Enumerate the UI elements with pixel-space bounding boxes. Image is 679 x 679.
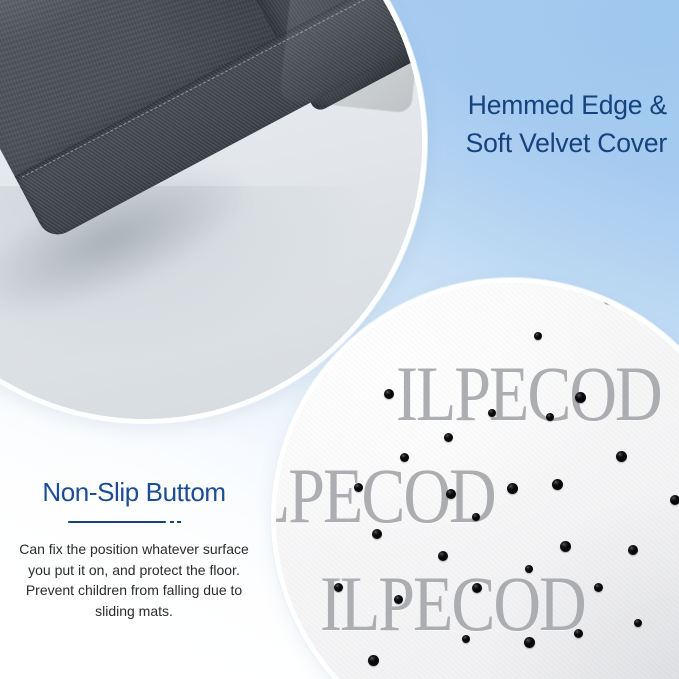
product-feature-infographic: ILPECOD ILPECOD ILPECOD Hemmed Edge & So…: [0, 0, 679, 679]
anti-slip-dot: [628, 545, 638, 555]
anti-slip-dot-grid: [276, 283, 679, 679]
anti-slip-dot: [384, 389, 394, 399]
anti-slip-dot: [524, 637, 535, 648]
anti-slip-dot: [552, 479, 563, 490]
feature-block-non-slip: Non-Slip Buttom Can fix the position wha…: [0, 476, 268, 621]
divider-line: [68, 521, 166, 523]
anti-slip-dot: [616, 451, 627, 462]
anti-slip-dot: [488, 409, 496, 417]
anti-slip-dot: [438, 551, 448, 561]
anti-slip-dot: [354, 483, 363, 492]
anti-slip-dot: [634, 619, 642, 627]
anti-slip-dot: [574, 629, 583, 638]
anti-slip-dot: [472, 583, 482, 593]
anti-slip-dot: [394, 595, 403, 604]
feature-description-non-slip: Can fix the position whatever surface yo…: [0, 539, 268, 621]
anti-slip-dot: [525, 565, 533, 573]
anti-slip-dot: [594, 583, 603, 592]
anti-slip-dot: [534, 332, 542, 340]
description-line-3: Prevent children from falling due to: [16, 580, 252, 601]
description-line-1: Can fix the position whatever surface: [16, 539, 252, 560]
anti-slip-dot: [546, 413, 554, 421]
heading-divider: [0, 513, 268, 531]
anti-slip-dot: [603, 293, 614, 304]
anti-slip-dot: [575, 392, 586, 403]
heading-line-2: Soft Velvet Cover: [343, 124, 667, 162]
divider-dash-2: [177, 521, 181, 523]
description-line-2: you put it on, and protect the floor.: [16, 560, 252, 581]
anti-slip-dot: [670, 495, 679, 505]
description-line-4: sliding mats.: [16, 601, 252, 622]
anti-slip-dot: [507, 483, 518, 494]
divider-dash-1: [170, 521, 174, 523]
anti-slip-dot: [560, 541, 571, 552]
heading-line-1: Hemmed Edge &: [343, 86, 667, 124]
anti-slip-dot: [400, 453, 409, 462]
anti-slip-dot: [368, 655, 379, 666]
anti-slip-dot: [444, 433, 453, 442]
feature-heading-hemmed-edge: Hemmed Edge & Soft Velvet Cover: [343, 86, 667, 162]
anti-slip-dot: [334, 583, 343, 592]
anti-slip-dot: [462, 635, 470, 643]
anti-slip-dot: [659, 321, 669, 331]
anti-slip-dot: [446, 489, 456, 499]
anti-slip-dot: [472, 513, 480, 521]
anti-slip-dot: [372, 529, 382, 539]
photo-circle-non-slip-bottom: ILPECOD ILPECOD ILPECOD: [276, 283, 679, 679]
feature-heading-non-slip: Non-Slip Buttom: [0, 476, 268, 508]
